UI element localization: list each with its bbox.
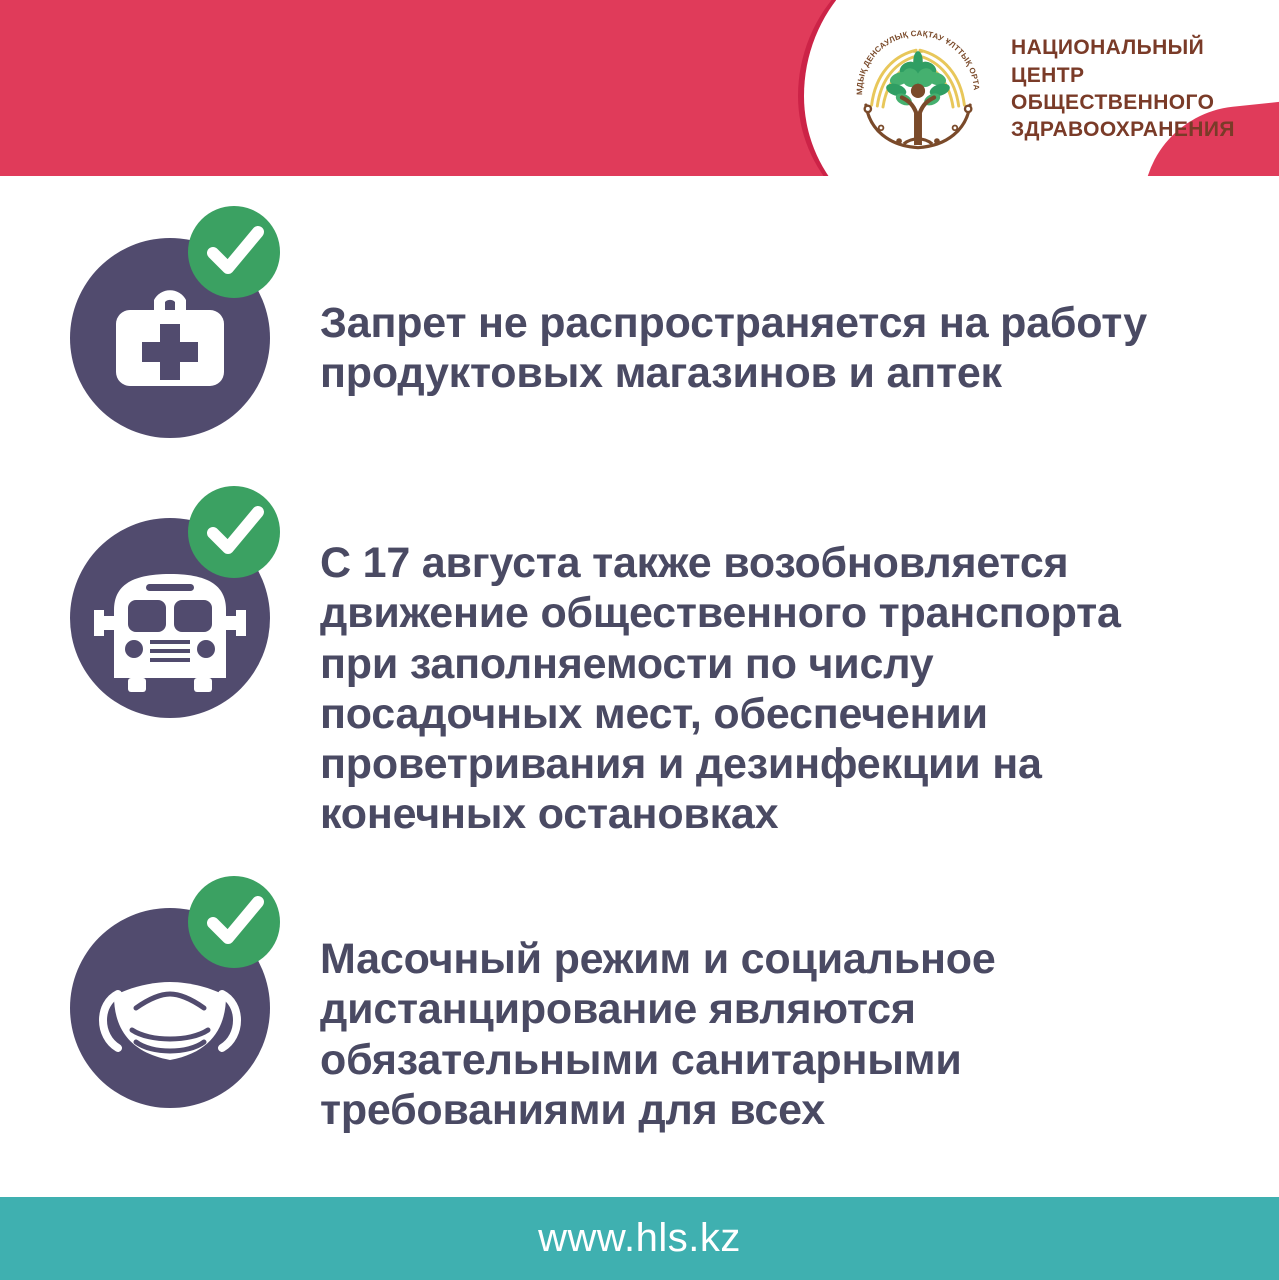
list-item-text: Масочный режим и социальное дистанцирова…	[320, 934, 996, 1135]
nphc-tree-emblem-icon: ҚОҒАМДЫҚ ДЕНСАУЛЫҚ САҚТАУ ҰЛТТЫҚ ОРТАЛЫҒ…	[845, 18, 991, 160]
icon-badge	[70, 486, 270, 718]
check-circle-icon	[188, 486, 280, 578]
organization-logo: ҚОҒАМДЫҚ ДЕНСАУЛЫҚ САҚТАУ ҰЛТТЫҚ ОРТАЛЫҒ…	[845, 18, 1279, 160]
list-item: Масочный режим и социальное дистанцирова…	[70, 876, 996, 1135]
infographic-poster: ҚОҒАМДЫҚ ДЕНСАУЛЫҚ САҚТАУ ҰЛТТЫҚ ОРТАЛЫҒ…	[0, 0, 1279, 1280]
organization-title: НАЦИОНАЛЬНЫЙ ЦЕНТР ОБЩЕСТВЕННОГО ЗДРАВОО…	[1011, 34, 1279, 143]
footer-bar: www.hls.kz	[0, 1197, 1279, 1280]
list-item-text: С 17 августа также возобновляется движен…	[320, 538, 1121, 840]
check-circle-icon	[188, 876, 280, 968]
list-item: С 17 августа также возобновляется движен…	[70, 486, 1121, 840]
icon-badge	[70, 206, 270, 438]
website-url[interactable]: www.hls.kz	[538, 1216, 741, 1261]
list-item: Запрет не распространяется на работу про…	[70, 206, 1147, 438]
icon-badge	[70, 876, 270, 1108]
header-banner: ҚОҒАМДЫҚ ДЕНСАУЛЫҚ САҚТАУ ҰЛТТЫҚ ОРТАЛЫҒ…	[0, 0, 1279, 176]
list-item-text: Запрет не распространяется на работу про…	[320, 298, 1147, 399]
check-circle-icon	[188, 206, 280, 298]
